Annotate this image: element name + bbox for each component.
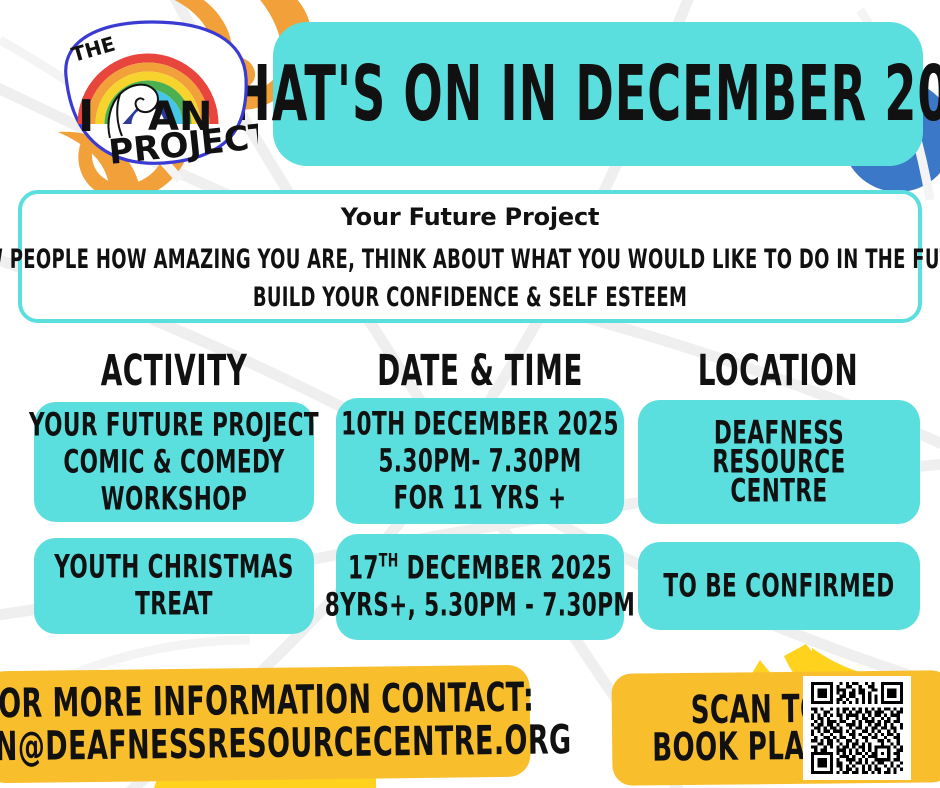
cell-line: YOUR FUTURE PROJECT	[29, 408, 319, 440]
intro-line-2: BUILD YOUR CONFIDENCE & SELF ESTEEM	[253, 283, 687, 309]
contact-banner: FOR MORE INFORMATION CONTACT: ICAN@DEAFN…	[0, 665, 531, 784]
table-row-1-activity-cell: YOUR FUTURE PROJECT COMIC & COMEDY WORKS…	[34, 402, 314, 522]
table-row-2-datetime-cell: 17TH DECEMBER 2025 8YRS+, 5.30PM - 7.30P…	[336, 534, 624, 640]
cell-line: 8YRS+, 5.30PM - 7.30PM	[325, 589, 636, 621]
table-row-2-activity-cell: YOUTH CHRISTMAS TREAT	[34, 538, 314, 634]
column-header-activity: ACTIVITY	[34, 351, 314, 398]
cell-line: 5.30PM- 7.30PM	[378, 444, 581, 476]
column-header-date-time: DATE & TIME	[330, 351, 630, 398]
logo-i-text: I	[78, 91, 94, 142]
poster-canvas: THE I AN PROJECT WHAT'S ON IN DECEMBER 2…	[0, 0, 940, 788]
page-title: WHAT'S ON IN DECEMBER 2025	[180, 56, 940, 133]
contact-email[interactable]: ICAN@DEAFNESSRESOURCECENTRE.ORG	[0, 721, 572, 769]
intro-panel: Your Future Project SHOW PEOPLE HOW AMAZ…	[18, 190, 922, 323]
header-banner: WHAT'S ON IN DECEMBER 2025	[273, 22, 923, 166]
cell-line: 10TH DECEMBER 2025	[341, 407, 619, 439]
cell-line: COMIC & COMEDY	[63, 445, 284, 477]
cell-line: TO BE CONFIRMED	[663, 569, 894, 601]
qr-code[interactable]	[803, 676, 911, 780]
cell-line: CENTRE	[730, 474, 827, 506]
qr-code-icon	[809, 682, 905, 774]
intro-line-1: SHOW PEOPLE HOW AMAZING YOU ARE, THINK A…	[0, 245, 940, 271]
date-rest: DECEMBER 2025	[399, 549, 612, 587]
column-header-location: LOCATION	[636, 351, 920, 398]
table-row-1-datetime-cell: 10TH DECEMBER 2025 5.30PM- 7.30PM FOR 11…	[336, 398, 624, 524]
date-ordinal-suffix: TH	[379, 551, 399, 572]
cell-line-with-ordinal: 17TH DECEMBER 2025	[348, 552, 612, 584]
cell-line: FOR 11 YRS +	[393, 481, 566, 513]
cell-line: TREAT	[135, 588, 213, 620]
table-row-1-location-cell: DEAFNESS RESOURCE CENTRE	[638, 400, 920, 524]
table-row-2-location-cell: TO BE CONFIRMED	[638, 542, 920, 630]
cell-line: YOUTH CHRISTMAS	[54, 551, 294, 583]
cell-line: WORKSHOP	[101, 482, 248, 514]
date-day-number: 17	[348, 549, 379, 587]
intro-heading: Your Future Project	[341, 203, 600, 231]
ican-project-logo: THE I AN PROJECT	[48, 18, 258, 170]
